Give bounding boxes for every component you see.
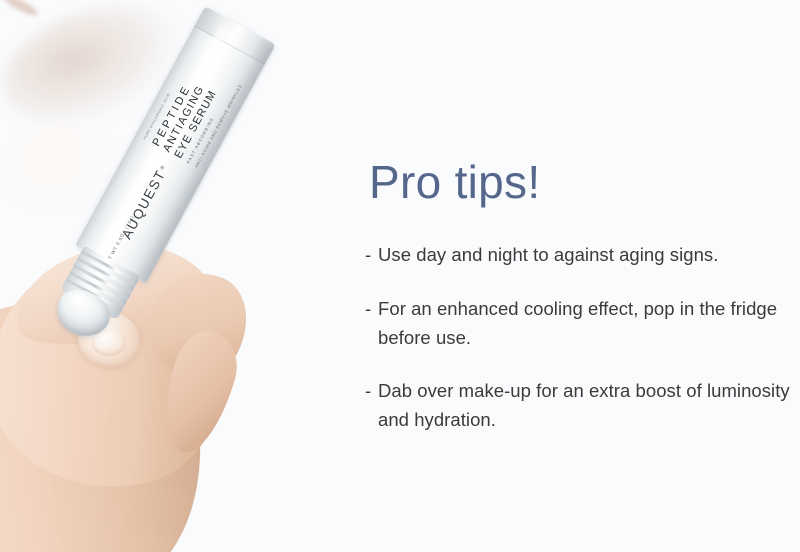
product-photo: PURE HYALURONIC ACID PEPTIDE ANTIAGING E… [0, 0, 360, 552]
bullet-dash: - [365, 294, 378, 323]
bullet-dash: - [365, 240, 378, 269]
page-title: Pro tips! [369, 158, 790, 206]
tip-text: Use day and night to against aging signs… [378, 240, 790, 269]
bullet-dash: - [365, 376, 378, 405]
tip-item: - For an enhanced cooling effect, pop in… [365, 294, 790, 352]
tip-item: - Dab over make-up for an extra boost of… [365, 376, 790, 434]
tip-text: For an enhanced cooling effect, pop in t… [378, 294, 790, 352]
tip-text: Dab over make-up for an extra boost of l… [378, 376, 790, 434]
text-panel: Pro tips! - Use day and night to against… [365, 158, 790, 434]
finger-crease [0, 0, 40, 19]
product-marketing-image: PURE HYALURONIC ACID PEPTIDE ANTIAGING E… [0, 0, 800, 552]
tip-item: - Use day and night to against aging sig… [365, 240, 790, 269]
